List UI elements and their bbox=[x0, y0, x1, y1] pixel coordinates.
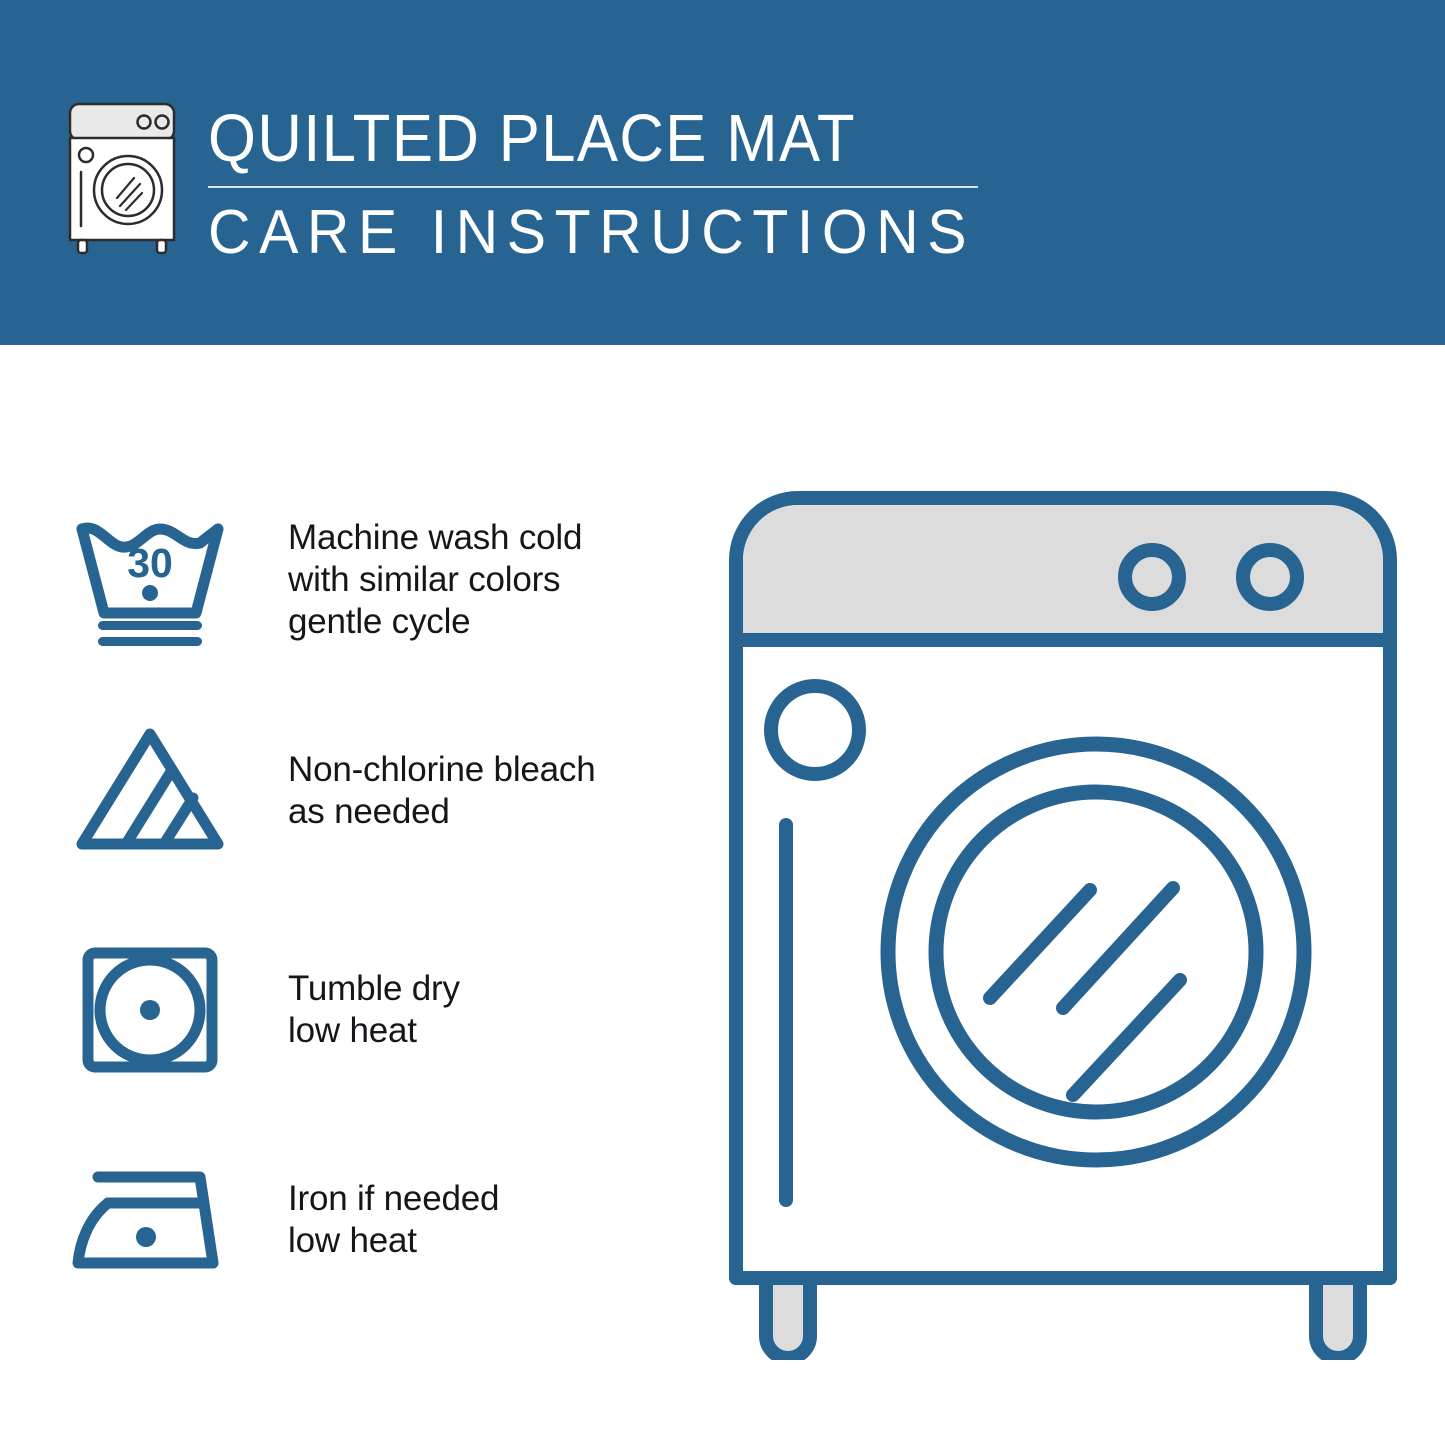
care-line: as needed bbox=[288, 791, 596, 833]
care-row-wash: 30 Machine wash cold with similar colors… bbox=[60, 500, 700, 660]
iron-low-heat-icon bbox=[60, 1145, 240, 1295]
care-line: Non-chlorine bleach bbox=[288, 749, 596, 791]
wash-temperature-value: 30 bbox=[127, 540, 173, 586]
care-text-iron: Iron if needed low heat bbox=[240, 1178, 499, 1262]
washing-machine-icon bbox=[62, 100, 182, 255]
front-load-washing-machine-illustration bbox=[718, 480, 1408, 1360]
care-line: Tumble dry bbox=[288, 968, 460, 1010]
header-banner: QUILTED PLACE MAT CARE INSTRUCTIONS bbox=[0, 0, 1445, 345]
leg-right bbox=[1316, 1278, 1360, 1358]
indicator-button bbox=[771, 686, 859, 774]
non-chlorine-bleach-triangle-icon bbox=[60, 716, 240, 866]
page-subtitle: CARE INSTRUCTIONS bbox=[208, 200, 959, 266]
leg-left bbox=[766, 1278, 810, 1358]
knob-left bbox=[1125, 550, 1179, 604]
header-text-block: QUILTED PLACE MAT CARE INSTRUCTIONS bbox=[208, 104, 998, 266]
wash-tub-30-gentle-icon: 30 bbox=[60, 505, 240, 655]
care-text-bleach: Non-chlorine bleach as needed bbox=[240, 749, 596, 833]
knob-right bbox=[1243, 550, 1297, 604]
care-line: Machine wash cold bbox=[288, 517, 582, 559]
tumble-dry-low-icon bbox=[60, 935, 240, 1085]
care-instructions-page: QUILTED PLACE MAT CARE INSTRUCTIONS 30 M… bbox=[0, 0, 1445, 1445]
care-line: gentle cycle bbox=[288, 601, 582, 643]
care-text-tumble-dry: Tumble dry low heat bbox=[240, 968, 460, 1052]
care-row-tumble-dry: Tumble dry low heat bbox=[60, 930, 700, 1090]
page-title: QUILTED PLACE MAT bbox=[208, 104, 935, 174]
care-row-iron: Iron if needed low heat bbox=[60, 1145, 700, 1295]
care-line: low heat bbox=[288, 1220, 499, 1262]
care-text-wash: Machine wash cold with similar colors ge… bbox=[240, 517, 582, 643]
care-line: low heat bbox=[288, 1010, 460, 1052]
care-row-bleach: Non-chlorine bleach as needed bbox=[60, 716, 700, 866]
header-divider bbox=[208, 186, 978, 188]
care-line: with similar colors bbox=[288, 559, 582, 601]
care-line: Iron if needed bbox=[288, 1178, 499, 1220]
